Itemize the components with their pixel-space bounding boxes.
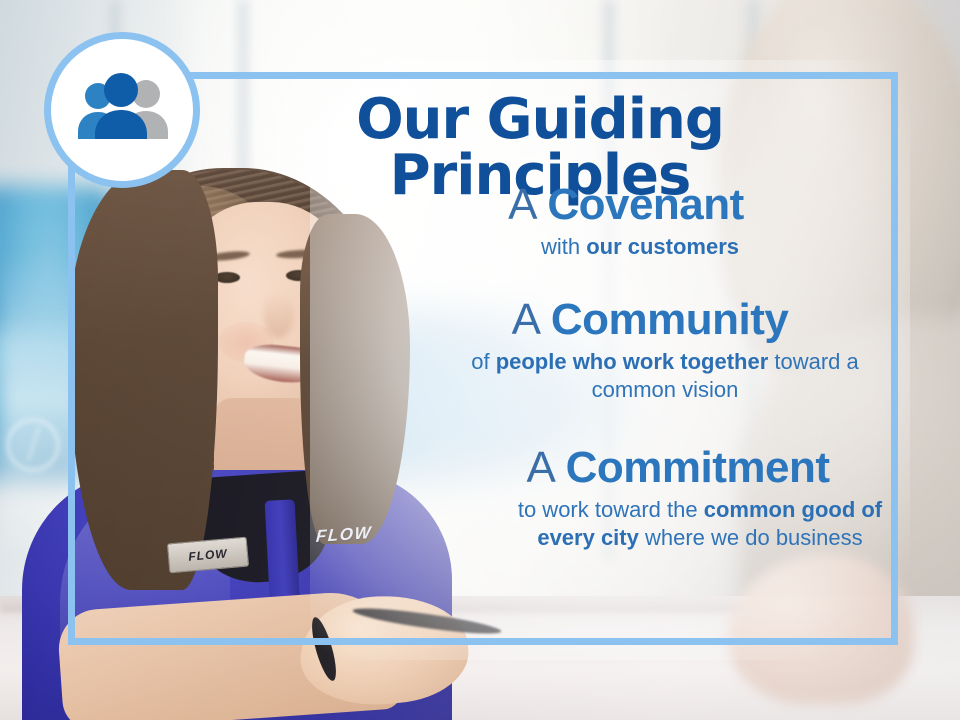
principle-keyword: Covenant xyxy=(547,180,743,229)
name-badge-logo-text: FLOW xyxy=(188,546,228,563)
people-group-badge xyxy=(44,32,200,188)
principle-article: A xyxy=(508,180,547,229)
principle-keyword: Commitment xyxy=(566,443,830,492)
principle-subtitle-part: with xyxy=(541,234,586,259)
guiding-principles-banner: FLOW FLOW xyxy=(0,0,960,720)
principle-covenant: A Covenant with our customers xyxy=(356,182,896,261)
principle-subtitle: of people who work together toward a com… xyxy=(430,348,900,405)
principles-list: A Covenant with our customers A Communit… xyxy=(300,182,896,559)
principle-title: A Covenant xyxy=(356,182,896,229)
principle-subtitle-part: where we do business xyxy=(639,525,863,550)
principle-subtitle-part-strong: our customers xyxy=(586,234,739,259)
principle-subtitle-part: to work toward the xyxy=(518,497,704,522)
principle-title: A Commitment xyxy=(460,445,896,492)
principle-keyword: Community xyxy=(551,295,789,344)
principle-article: A xyxy=(526,443,565,492)
principle-subtitle: to work toward the common good of every … xyxy=(490,496,910,553)
principle-subtitle-part: of xyxy=(471,349,495,374)
principle-title: A Community xyxy=(404,297,896,344)
principle-article: A xyxy=(512,295,551,344)
principle-commitment: A Commitment to work toward the common g… xyxy=(460,445,896,553)
principle-subtitle-part-strong: people who work together xyxy=(496,349,769,374)
principle-community: A Community of people who work together … xyxy=(404,297,896,405)
associate-hair-front-left xyxy=(68,170,218,590)
people-group-icon xyxy=(70,73,174,147)
principle-subtitle: with our customers xyxy=(384,233,896,262)
